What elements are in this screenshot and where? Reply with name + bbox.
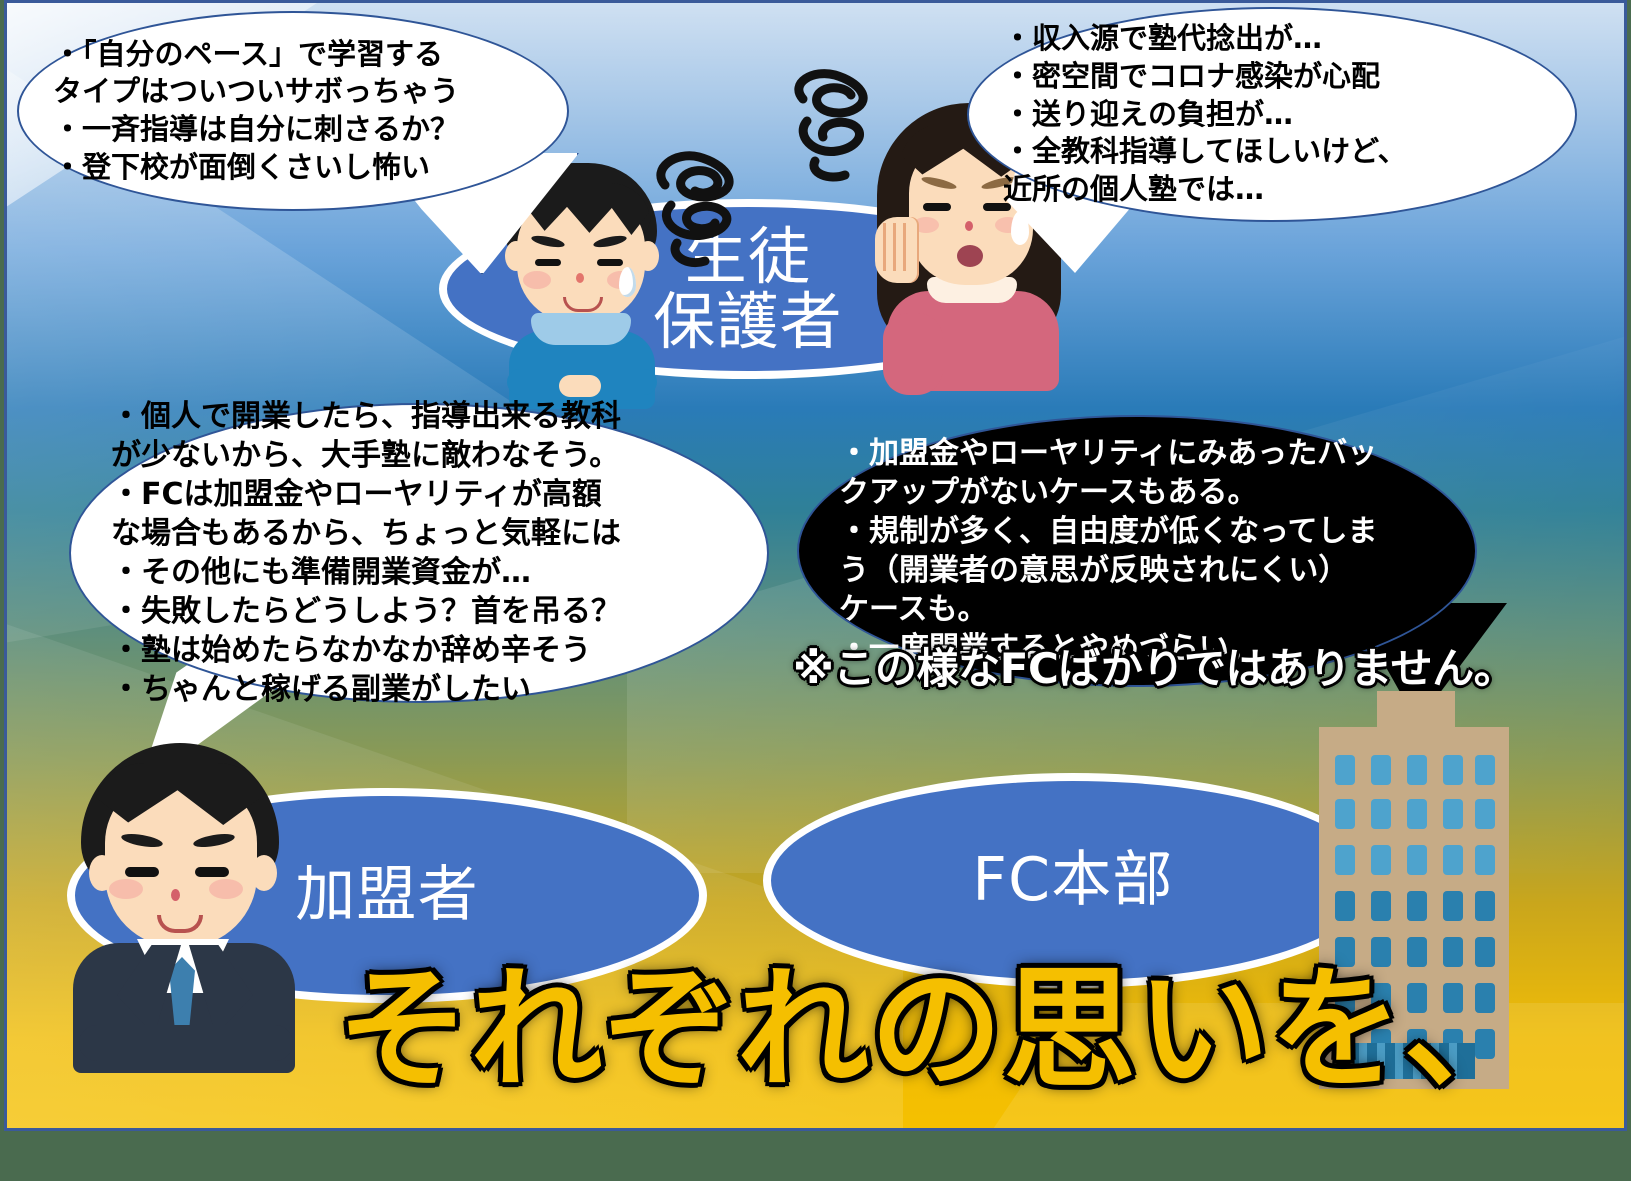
member-bubble-line-2: が少ないから、大手塾に敵わなそう。 — [111, 436, 727, 475]
parent-speech-bubble: ・収入源で塾代捻出が… ・密空間でコロナ感染が心配 ・送り迎えの負担が… ・全教… — [967, 7, 1577, 222]
parent-bubble-line-1: ・収入源で塾代捻出が… — [1003, 20, 1541, 58]
role-label-parent-line: 保護者 — [653, 289, 843, 354]
building-window — [1443, 845, 1463, 875]
member-bubble-line-6: ・失敗したらどうしよう？首を吊る？ — [111, 592, 727, 631]
member-bubble-line-5: ・その他にも準備開業資金が… — [111, 553, 727, 592]
businessman-illustration — [65, 743, 305, 1073]
building-window — [1335, 755, 1355, 785]
student-speech-bubble: ・「自分のペース」で学習する タイプはついついサボっちゃう ・一斉指導は自分に刺… — [17, 11, 569, 211]
gloom-spiral-icon — [647, 143, 767, 273]
building-window — [1371, 891, 1391, 921]
student-bubble-line-3: ・一斉指導は自分に刺さるか？ — [53, 111, 533, 149]
building-window — [1371, 755, 1391, 785]
building-window — [1407, 845, 1427, 875]
building-window — [1371, 845, 1391, 875]
building-window — [1443, 755, 1463, 785]
headline-text: それぞれの思いを、 — [337, 923, 1537, 1114]
building-window — [1335, 845, 1355, 875]
building-window — [1475, 845, 1495, 875]
member-bubble-line-4: な場合もあるから、ちょっと気軽には — [111, 514, 727, 553]
building-window — [1407, 755, 1427, 785]
building-window — [1475, 891, 1495, 921]
role-label-member-text: 加盟者 — [295, 864, 479, 927]
building-window — [1407, 799, 1427, 829]
parent-bubble-line-2: ・密空間でコロナ感染が心配 — [1003, 58, 1541, 96]
student-bubble-line-4: ・登下校が面倒くさいし怖い — [53, 149, 533, 187]
hq-bubble-line-1: ・加盟金やローヤリティにみあったバッ — [839, 434, 1435, 473]
role-label-headquarters-text: FC本部 — [972, 849, 1173, 912]
member-bubble-line-8: ・ちゃんと稼げる副業がしたい — [111, 670, 727, 709]
member-bubble-line-1: ・個人で開業したら、指導出来る教科 — [111, 397, 727, 436]
parent-bubble-line-3: ・送り迎えの負担が… — [1003, 96, 1541, 134]
student-bubble-line-2: タイプはついついサボっちゃう — [53, 73, 533, 111]
member-bubble-line-7: ・塾は始めたらなかなか辞め辛そう — [111, 631, 727, 670]
building-window — [1475, 755, 1495, 785]
building-window — [1475, 799, 1495, 829]
building-window — [1443, 891, 1463, 921]
parent-bubble-line-4: ・全教科指導してほしいけど、 — [1003, 133, 1541, 171]
parent-bubble-line-5: 近所の個人塾では… — [1003, 171, 1541, 209]
hq-bubble-line-5: ケースも。 — [839, 590, 1435, 629]
hq-bubble-line-4: う（開業者の意思が反映されにくい） — [839, 551, 1435, 590]
gloom-spiral-icon-2 — [787, 65, 897, 185]
student-bubble-line-1: ・「自分のペース」で学習する — [53, 36, 533, 74]
building-window — [1443, 799, 1463, 829]
building-window — [1371, 799, 1391, 829]
hq-bubble-line-2: クアップがないケースもある。 — [839, 473, 1435, 512]
building-window — [1407, 891, 1427, 921]
building-window — [1335, 891, 1355, 921]
slide-canvas: 生徒 保護者 — [4, 0, 1627, 1131]
disclaimer-note: ※この様なFCばかりではありません。 — [793, 635, 1515, 696]
building-window — [1335, 799, 1355, 829]
member-speech-bubble: ・個人で開業したら、指導出来る教科 が少ないから、大手塾に敵わなそう。 ・FCは… — [69, 403, 769, 703]
member-bubble-line-3: ・FCは加盟金やローヤリティが高額 — [111, 475, 727, 514]
hq-bubble-line-3: ・規制が多く、自由度が低くなってしま — [839, 512, 1435, 551]
screenshot-root: 生徒 保護者 — [0, 0, 1631, 1181]
